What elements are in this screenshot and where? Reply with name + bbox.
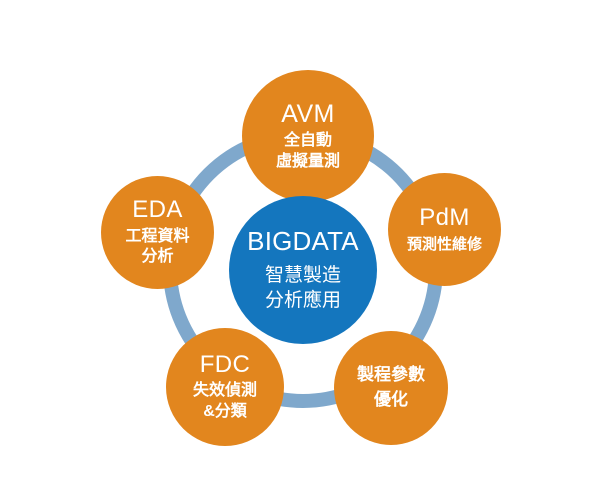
node-eda-description-line-1: 工程資料: [125, 227, 189, 247]
node-avm[interactable]: AVM 全自動 虛擬量測: [242, 70, 374, 202]
node-eda-description-line-2: 分析: [125, 247, 189, 267]
node-avm-description: 全自動 虛擬量測: [276, 131, 340, 172]
center-hub-bigdata[interactable]: BIGDATA 智慧製造 分析應用: [229, 196, 377, 344]
node-ppo-description-line-2: 優化: [357, 388, 425, 413]
node-pdm-description: 預測性維修: [407, 235, 482, 254]
diagram-canvas: BIGDATA 智慧製造 分析應用 AVM 全自動 虛擬量測 PdM 預測性維修…: [0, 0, 600, 500]
node-process-parameter-optimization[interactable]: 製程參數 優化: [334, 331, 448, 445]
node-fdc[interactable]: FDC 失效偵測 &分類: [166, 328, 284, 446]
node-fdc-description-line-1: 失效偵測: [193, 381, 257, 401]
node-pdm-description-line-1: 預測性維修: [407, 235, 482, 254]
node-fdc-description: 失效偵測 &分類: [193, 381, 257, 422]
node-pdm[interactable]: PdM 預測性維修: [388, 173, 501, 286]
node-eda[interactable]: EDA 工程資料 分析: [101, 176, 214, 289]
node-eda-acronym: EDA: [132, 197, 183, 224]
node-avm-description-line-1: 全自動: [276, 131, 340, 151]
center-hub-description: 智慧製造 分析應用: [265, 263, 341, 314]
node-ppo-description-line-1: 製程參數: [357, 363, 425, 388]
center-hub-description-line-2: 分析應用: [265, 288, 341, 313]
node-avm-description-line-2: 虛擬量測: [276, 152, 340, 172]
node-avm-acronym: AVM: [281, 100, 335, 128]
node-eda-description: 工程資料 分析: [125, 227, 189, 268]
node-fdc-acronym: FDC: [200, 352, 251, 379]
center-hub-description-line-1: 智慧製造: [265, 263, 341, 288]
node-ppo-description: 製程參數 優化: [357, 363, 425, 412]
center-hub-acronym: BIGDATA: [247, 227, 359, 256]
node-pdm-acronym: PdM: [419, 205, 470, 232]
node-fdc-description-line-2: &分類: [193, 402, 257, 422]
